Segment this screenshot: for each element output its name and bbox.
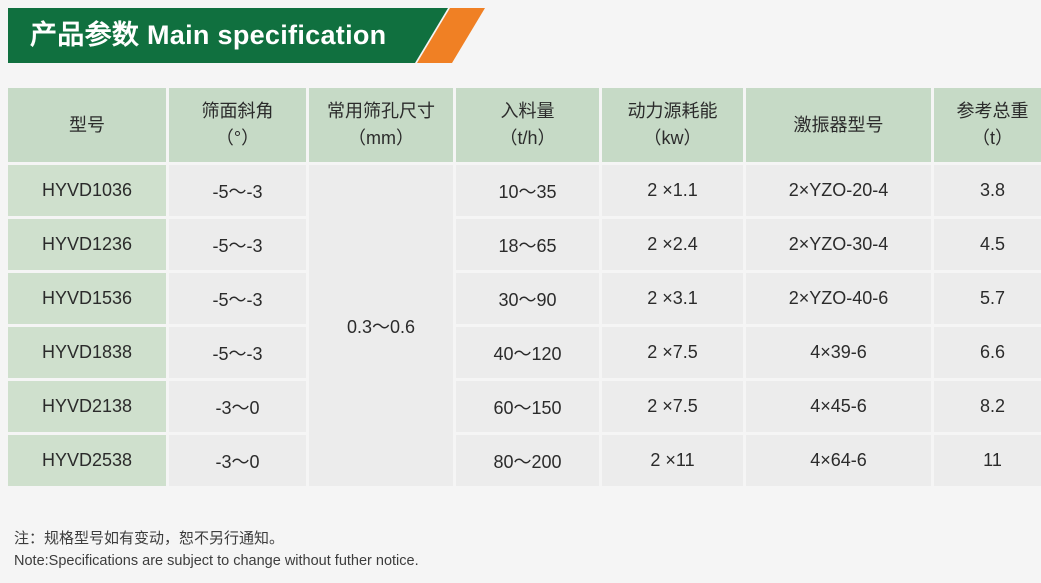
cell-feed-capacity: 30～90: [456, 273, 599, 324]
column-header-model-line1: 型号: [69, 115, 105, 135]
cell-total-weight: 3.8: [934, 165, 1041, 216]
cell-model: HYVD1236: [8, 219, 166, 270]
column-header-power-consumption-line1: 动力源耗能: [628, 101, 718, 121]
cell-feed-capacity: 60～150: [456, 381, 599, 432]
column-header-aperture-size: 常用筛孔尺寸 （mm）: [309, 88, 453, 162]
table-row: HYVD1838 -5～-3 40～120 2 ×7.5 4×39-6 6.6: [8, 327, 1041, 378]
table-row: HYVD1536 -5～-3 30～90 2 ×3.1 2×YZO-40-6 5…: [8, 273, 1041, 324]
cell-vibrator-model: 4×64-6: [746, 435, 931, 486]
specification-table: 型号 筛面斜角 （°） 常用筛孔尺寸 （mm） 入料量 （t/h） 动力源耗能 …: [5, 85, 1041, 489]
cell-total-weight: 5.7: [934, 273, 1041, 324]
column-header-screen-angle: 筛面斜角 （°）: [169, 88, 306, 162]
column-header-vibrator-model: 激振器型号: [746, 88, 931, 162]
cell-power-consumption: 2 ×7.5: [602, 381, 743, 432]
column-header-model: 型号: [8, 88, 166, 162]
column-header-feed-capacity-line1: 入料量: [501, 101, 555, 121]
cell-feed-capacity: 40～120: [456, 327, 599, 378]
cell-vibrator-model: 2×YZO-30-4: [746, 219, 931, 270]
note-english: Note:Specifications are subject to chang…: [14, 550, 419, 572]
cell-model: HYVD1036: [8, 165, 166, 216]
cell-feed-capacity: 10～35: [456, 165, 599, 216]
cell-total-weight: 8.2: [934, 381, 1041, 432]
cell-model: HYVD2538: [8, 435, 166, 486]
column-header-total-weight-line2: （t）: [934, 125, 1041, 152]
table-header-row: 型号 筛面斜角 （°） 常用筛孔尺寸 （mm） 入料量 （t/h） 动力源耗能 …: [8, 88, 1041, 162]
column-header-total-weight: 参考总重 （t）: [934, 88, 1041, 162]
column-header-feed-capacity-line2: （t/h）: [456, 125, 599, 152]
cell-screen-angle: -5～-3: [169, 273, 306, 324]
cell-vibrator-model: 2×YZO-20-4: [746, 165, 931, 216]
column-header-vibrator-model-line1: 激振器型号: [794, 115, 884, 135]
cell-power-consumption: 2 ×3.1: [602, 273, 743, 324]
cell-power-consumption: 2 ×2.4: [602, 219, 743, 270]
column-header-total-weight-line1: 参考总重: [957, 101, 1029, 121]
page-title-banner: 产品参数 Main specification: [8, 8, 488, 63]
cell-vibrator-model: 4×45-6: [746, 381, 931, 432]
table-row: HYVD2138 -3～0 60～150 2 ×7.5 4×45-6 8.2: [8, 381, 1041, 432]
table-row: HYVD1036 -5～-3 0.3～0.6 10～35 2 ×1.1 2×YZ…: [8, 165, 1041, 216]
cell-screen-angle: -5～-3: [169, 327, 306, 378]
table-row: HYVD2538 -3～0 80～200 2 ×11 4×64-6 11: [8, 435, 1041, 486]
column-header-aperture-size-line2: （mm）: [309, 125, 453, 152]
cell-vibrator-model: 4×39-6: [746, 327, 931, 378]
cell-total-weight: 4.5: [934, 219, 1041, 270]
spec-sheet-page: { "banner": { "title": "产品参数 Main specif…: [0, 0, 1041, 583]
cell-screen-angle: -5～-3: [169, 219, 306, 270]
footer-notes: 注：规格型号如有变动，恕不另行通知。 Note:Specifications a…: [14, 527, 419, 572]
column-header-aperture-size-line1: 常用筛孔尺寸: [327, 101, 435, 121]
column-header-screen-angle-line2: （°）: [169, 125, 306, 152]
cell-model: HYVD1838: [8, 327, 166, 378]
note-chinese: 注：规格型号如有变动，恕不另行通知。: [14, 527, 419, 550]
cell-power-consumption: 2 ×11: [602, 435, 743, 486]
cell-feed-capacity: 18～65: [456, 219, 599, 270]
cell-screen-angle: -3～0: [169, 435, 306, 486]
column-header-power-consumption: 动力源耗能 （kw）: [602, 88, 743, 162]
column-header-power-consumption-line2: （kw）: [602, 125, 743, 152]
column-header-feed-capacity: 入料量 （t/h）: [456, 88, 599, 162]
cell-model: HYVD1536: [8, 273, 166, 324]
cell-power-consumption: 2 ×1.1: [602, 165, 743, 216]
cell-power-consumption: 2 ×7.5: [602, 327, 743, 378]
cell-screen-angle: -5～-3: [169, 165, 306, 216]
cell-model: HYVD2138: [8, 381, 166, 432]
page-title: 产品参数 Main specification: [30, 8, 386, 63]
table-row: HYVD1236 -5～-3 18～65 2 ×2.4 2×YZO-30-4 4…: [8, 219, 1041, 270]
cell-total-weight: 6.6: [934, 327, 1041, 378]
column-header-screen-angle-line1: 筛面斜角: [202, 101, 274, 121]
cell-feed-capacity: 80～200: [456, 435, 599, 486]
cell-aperture-size-merged: 0.3～0.6: [309, 165, 453, 486]
cell-screen-angle: -3～0: [169, 381, 306, 432]
cell-total-weight: 11: [934, 435, 1041, 486]
cell-vibrator-model: 2×YZO-40-6: [746, 273, 931, 324]
